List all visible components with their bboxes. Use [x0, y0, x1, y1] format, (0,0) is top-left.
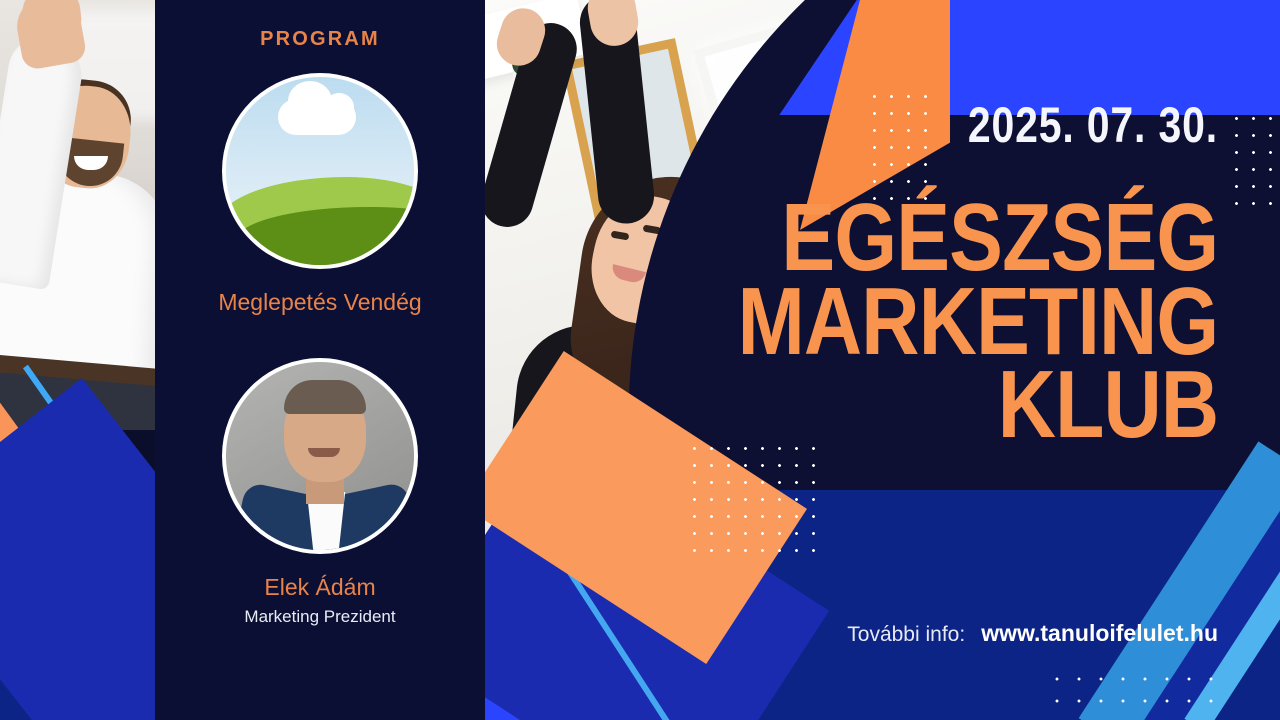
event-poster: PROGRAM Meglepetés Vendég Elek Ádám	[0, 0, 1280, 720]
speaker-card-1: Meglepetés Vendég	[218, 73, 421, 316]
event-date: 2025. 07. 30.	[968, 96, 1218, 154]
event-title: EGÉSZSÉG MARKETING KLUB	[646, 196, 1218, 447]
dot-grid-middle	[686, 440, 816, 555]
more-info-label: További info:	[847, 623, 965, 647]
website-url[interactable]: www.tanuloifelulet.hu	[981, 620, 1218, 647]
more-info-block: További info: www.tanuloifelulet.hu	[847, 620, 1218, 647]
title-line-3: KLUB	[737, 363, 1218, 447]
program-panel: PROGRAM Meglepetés Vendég Elek Ádám	[155, 0, 485, 720]
dot-grid-bottom-right	[1046, 668, 1226, 720]
dot-grid-top-right	[1228, 110, 1280, 210]
program-label: PROGRAM	[260, 28, 380, 51]
speaker-card-2: Elek Ádám Marketing Prezident	[222, 358, 418, 627]
speaker-role: Marketing Prezident	[244, 607, 395, 627]
speaker-name: Meglepetés Vendég	[218, 289, 421, 316]
avatar-elek-adam	[222, 358, 418, 554]
avatar-surprise-guest	[222, 73, 418, 269]
placeholder-cloud-icon	[278, 99, 356, 135]
portrait-hair	[284, 380, 366, 414]
speaker-name: Elek Ádám	[264, 574, 375, 601]
portrait-smile	[308, 448, 340, 457]
